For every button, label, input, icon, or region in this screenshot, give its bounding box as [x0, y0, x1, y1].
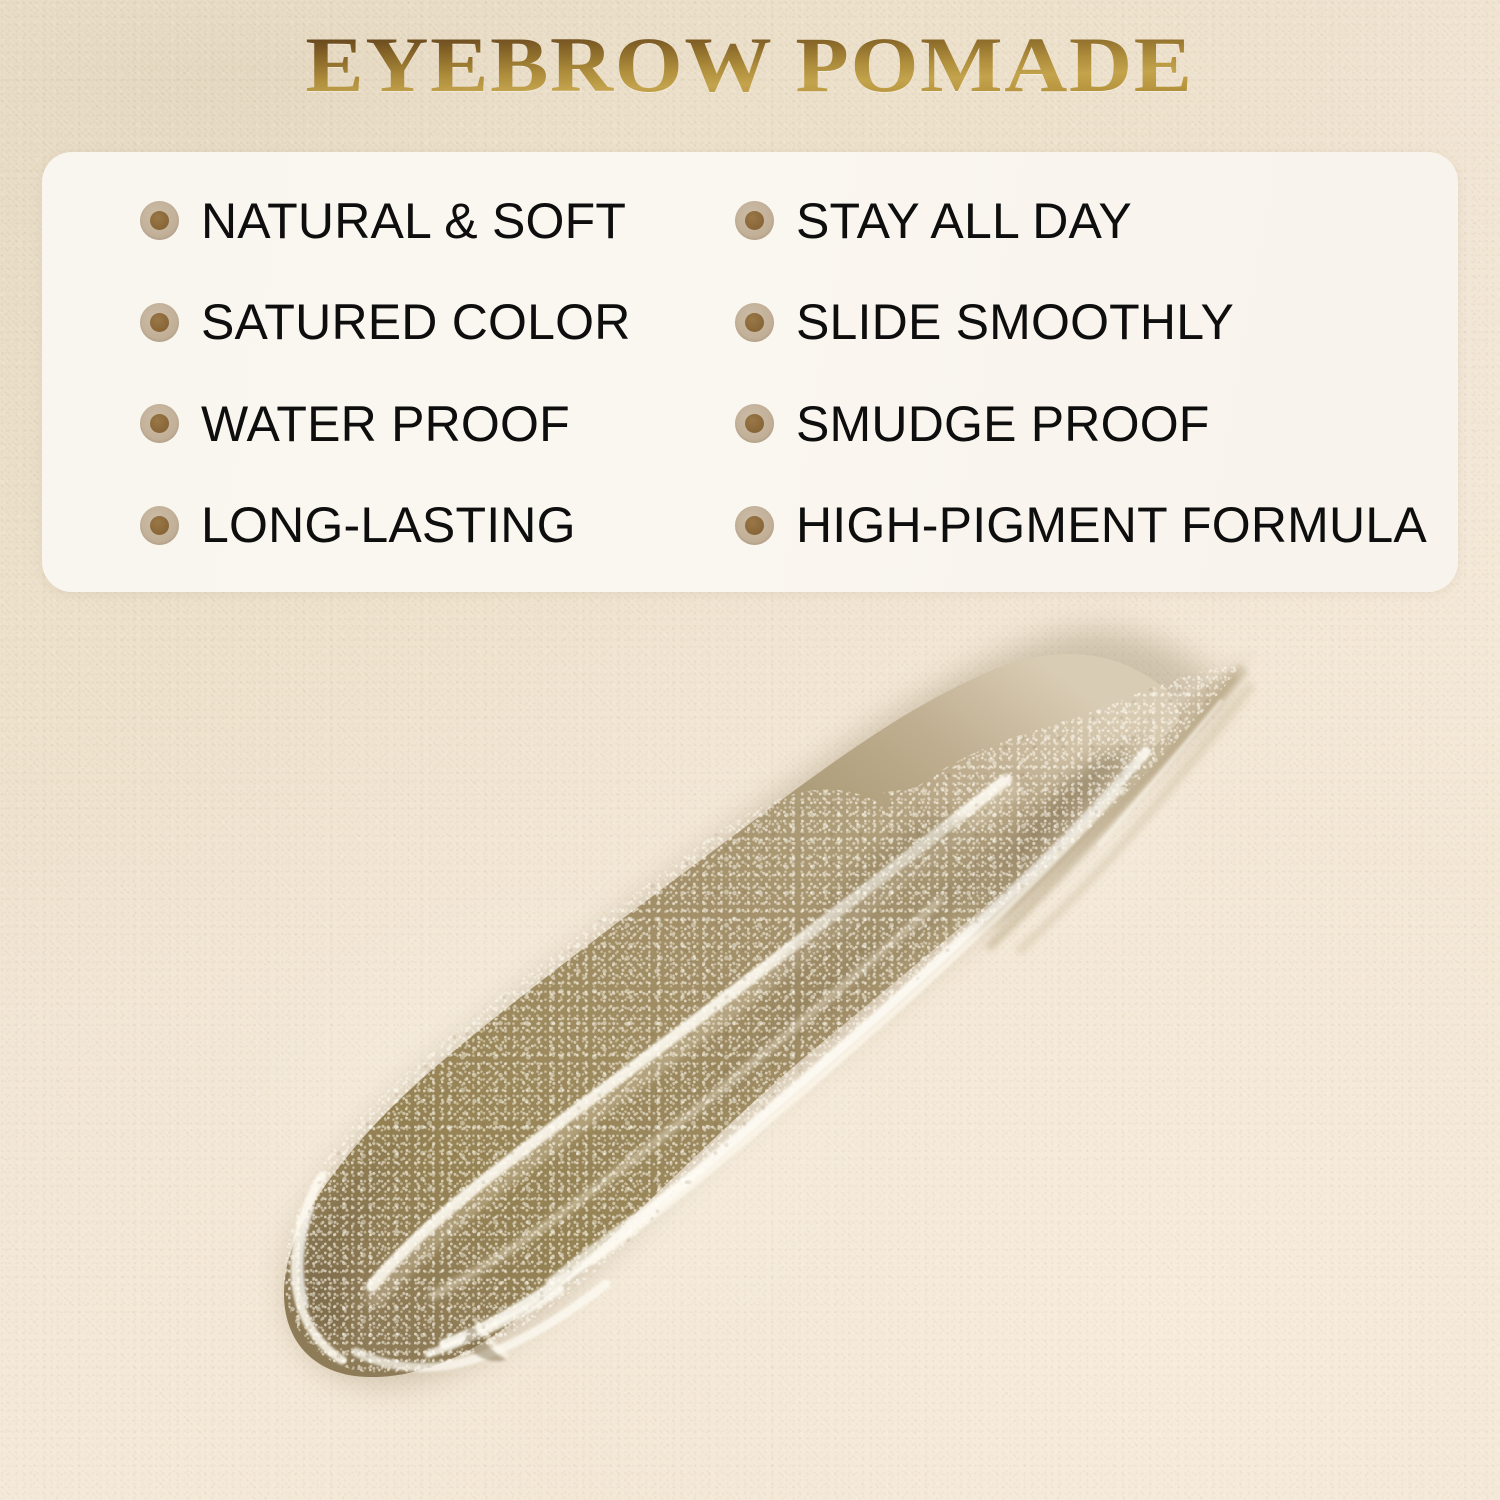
- bullet-dot-icon: [735, 404, 774, 443]
- feature-item-high-pigment-formula: HIGH-PIGMENT FORMULA: [735, 500, 1458, 550]
- feature-label: SLIDE SMOOTHLY: [796, 297, 1234, 347]
- bullet-dot-icon: [140, 201, 179, 240]
- page-title: EYEBROW POMADE: [306, 26, 1194, 104]
- product-graphic-canvas: EYEBROW POMADE NATURAL & SOFT STAY ALL D…: [0, 0, 1500, 1500]
- feature-list: NATURAL & SOFT STAY ALL DAY SATURED COLO…: [42, 152, 1458, 592]
- feature-label: NATURAL & SOFT: [201, 196, 626, 246]
- feature-label: LONG-LASTING: [201, 500, 576, 550]
- bullet-dot-icon: [140, 303, 179, 342]
- feature-label: HIGH-PIGMENT FORMULA: [796, 500, 1427, 550]
- title-container: EYEBROW POMADE: [0, 26, 1500, 104]
- feature-label: WATER PROOF: [201, 399, 570, 449]
- feature-item-satured-color: SATURED COLOR: [140, 297, 735, 347]
- bullet-dot-icon: [735, 201, 774, 240]
- feature-label: SMUDGE PROOF: [796, 399, 1210, 449]
- feature-item-stay-all-day: STAY ALL DAY: [735, 196, 1458, 246]
- bullet-dot-icon: [735, 506, 774, 545]
- bullet-dot-icon: [735, 303, 774, 342]
- feature-item-smudge-proof: SMUDGE PROOF: [735, 399, 1458, 449]
- feature-item-natural-and-soft: NATURAL & SOFT: [140, 196, 735, 246]
- feature-item-water-proof: WATER PROOF: [140, 399, 735, 449]
- bullet-dot-icon: [140, 506, 179, 545]
- feature-item-long-lasting: LONG-LASTING: [140, 500, 735, 550]
- feature-label: SATURED COLOR: [201, 297, 631, 347]
- feature-card: NATURAL & SOFT STAY ALL DAY SATURED COLO…: [42, 152, 1458, 592]
- feature-item-slide-smoothly: SLIDE SMOOTHLY: [735, 297, 1458, 347]
- feature-label: STAY ALL DAY: [796, 196, 1132, 246]
- bullet-dot-icon: [140, 404, 179, 443]
